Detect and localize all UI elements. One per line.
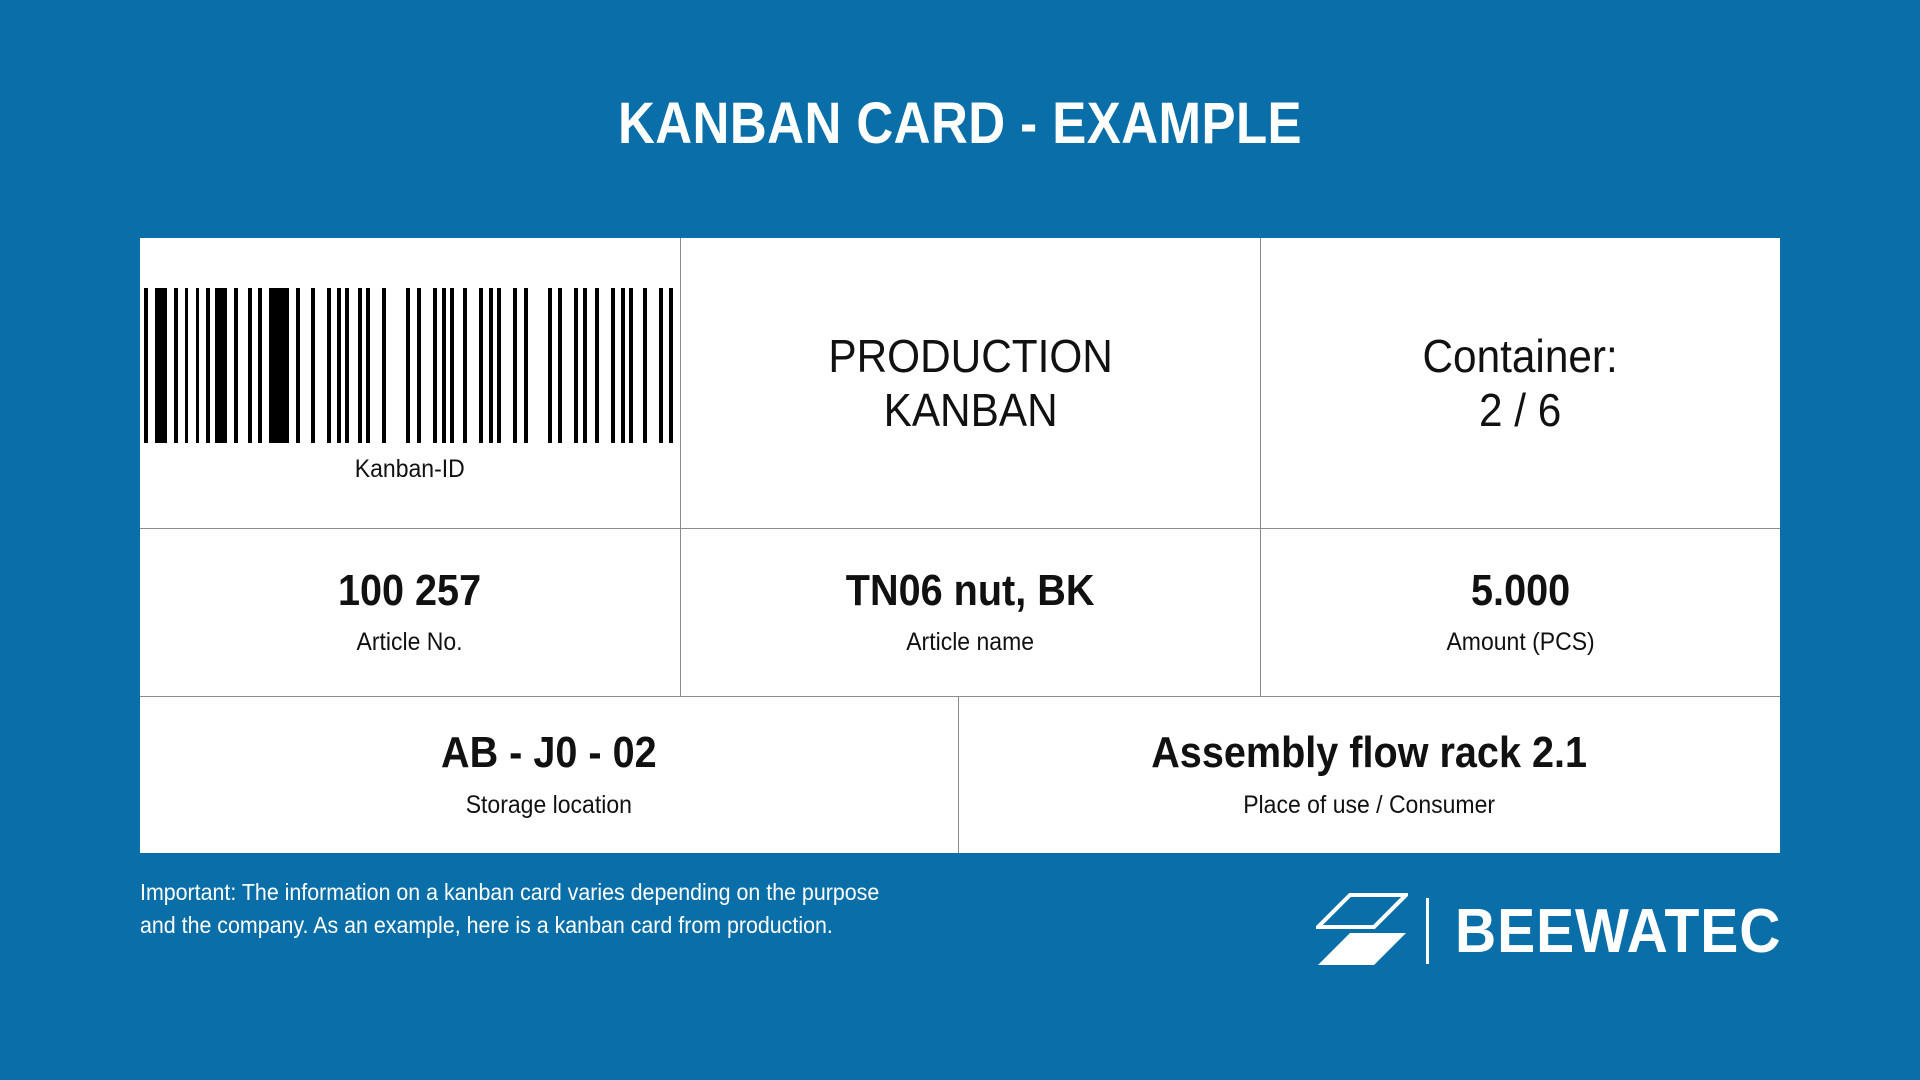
article-no-cell: 100 257 Article No. (140, 529, 680, 696)
place-of-use-value: Assembly flow rack 2.1 (1152, 730, 1588, 776)
place-of-use-cell: Assembly flow rack 2.1 Place of use / Co… (958, 697, 1780, 853)
logo-separator (1426, 898, 1429, 964)
article-name-cell: TN06 nut, BK Article name (680, 529, 1260, 696)
brand-logo: BEEWATEC (1316, 888, 1810, 974)
footnote-line-1: Important: The information on a kanban c… (140, 876, 977, 909)
kanban-card: Kanban-ID PRODUCTION KANBAN Container: 2… (140, 238, 1780, 853)
storage-location-value: AB - J0 - 02 (441, 730, 657, 776)
card-row-3: AB - J0 - 02 Storage location Assembly f… (140, 696, 1780, 853)
storage-location-cell: AB - J0 - 02 Storage location (140, 697, 958, 853)
footnote-line-2: and the company. As an example, here is … (140, 909, 977, 942)
article-name-value: TN06 nut, BK (846, 568, 1095, 614)
footnote: Important: The information on a kanban c… (140, 876, 977, 943)
kanban-id-label: Kanban-ID (355, 455, 465, 484)
page-title: KANBAN CARD - EXAMPLE (115, 90, 1805, 157)
article-no-value: 100 257 (338, 568, 481, 614)
kanban-type-line-1: PRODUCTION (828, 329, 1112, 383)
amount-value: 5.000 (1448, 568, 1593, 614)
kanban-id-cell: Kanban-ID (140, 238, 680, 528)
storage-location-label: Storage location (439, 791, 659, 820)
article-no-label: Article No. (337, 628, 483, 657)
beewatec-diamond-logo-icon (1316, 893, 1408, 969)
barcode-icon (144, 288, 677, 443)
amount-cell: 5.000 Amount (PCS) (1260, 529, 1780, 696)
place-of-use-label: Place of use / Consumer (1147, 791, 1593, 820)
kanban-type-cell: PRODUCTION KANBAN (680, 238, 1260, 528)
container-label: Container: (1423, 329, 1618, 383)
card-row-1: Kanban-ID PRODUCTION KANBAN Container: 2… (140, 238, 1780, 528)
amount-label: Amount (PCS) (1446, 628, 1594, 657)
card-row-2: 100 257 Article No. TN06 nut, BK Article… (140, 528, 1780, 696)
slide-root: KANBAN CARD - EXAMPLE Kanban-ID PRODUCTI… (0, 0, 1920, 1080)
brand-name: BEEWATEC (1455, 896, 1781, 967)
kanban-type-line-2: KANBAN (828, 383, 1112, 437)
container-value: 2 / 6 (1423, 383, 1618, 437)
container-cell: Container: 2 / 6 (1260, 238, 1780, 528)
article-name-label: Article name (843, 628, 1097, 657)
